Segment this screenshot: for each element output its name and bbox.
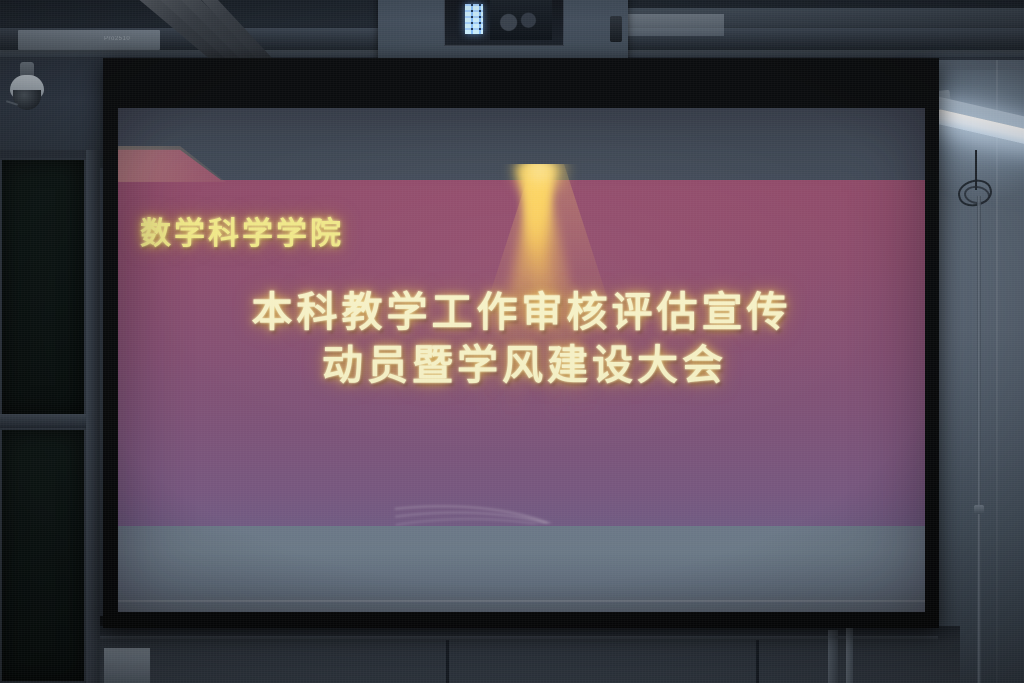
slide-organization-text: 数学科学学院 [140,208,344,253]
wall-conduit-joint [974,505,984,514]
lower-wall-post-outer [846,626,853,683]
lower-wall-ledge [100,636,938,640]
projection-screen-surface: 数学科学学院 本科教学工作审核评估宣传 动员暨学风建设大会 [118,108,925,612]
lower-wall-seam-1 [446,640,449,683]
slide-title-line-2: 动员暨学风建设大会 [118,339,925,392]
chalkboard-panel-upper [0,158,86,416]
ceiling-cable-clip [610,16,622,42]
slide-footer-band [118,526,925,612]
lower-wall-light-patch [104,648,150,683]
wall-conduit-pipe [977,196,981,683]
chalkboard-divider [0,414,100,426]
chalkboard-panel-lower [0,428,86,683]
slide-footer-line [118,600,925,602]
ceiling-track-box [18,30,160,50]
slide-top-band [118,108,925,180]
projector-led-indicator [465,4,483,34]
lecture-hall-scene: Pro2510 [0,0,1024,683]
track-box-label: Pro2510 [104,36,130,42]
lower-wall-post [828,630,838,683]
lower-wall-seam-2 [756,640,759,683]
projector-internals [490,0,552,40]
slide-title-line-1: 本科教学工作审核评估宣传 [118,286,925,339]
slide-title-block: 本科教学工作审核评估宣传 动员暨学风建设大会 [118,286,925,393]
dome-security-camera-icon [6,62,50,120]
ceiling-track-box-right [620,14,724,36]
right-wall-seam [996,0,998,683]
chalkboard-right-post [86,150,100,683]
camera-dome [13,90,41,110]
